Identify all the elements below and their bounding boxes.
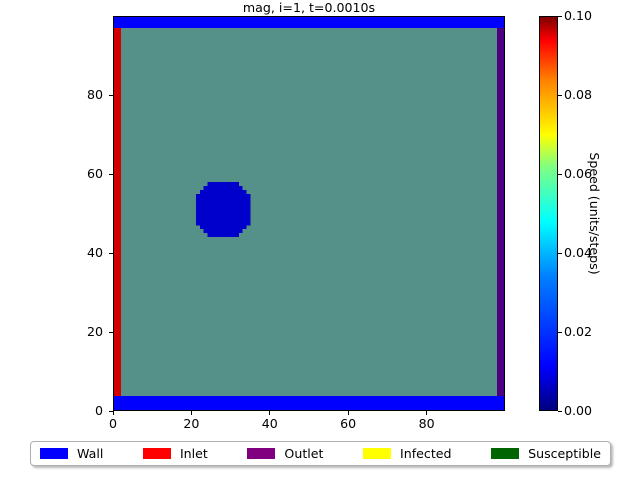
simulation-domain-axes [113, 16, 505, 411]
legend: WallInletOutletInfectedSusceptible [30, 441, 611, 466]
legend-swatch-icon [40, 448, 68, 459]
legend-entry-outlet: Outlet [247, 447, 323, 460]
y-tick-mark [109, 95, 113, 96]
legend-label: Infected [400, 447, 451, 460]
y-tick-label: 80 [0, 88, 103, 101]
colorbar-tick-mark [558, 174, 562, 175]
colorbar-tick-mark [558, 95, 562, 96]
x-tick-label: 20 [151, 417, 231, 430]
colorbar-tick-mark [558, 332, 562, 333]
x-tick-mark [269, 411, 270, 415]
y-tick-label: 20 [0, 325, 103, 338]
legend-swatch-icon [143, 448, 171, 459]
legend-label: Wall [77, 447, 103, 460]
legend-swatch-icon [363, 448, 391, 459]
legend-swatch-icon [491, 448, 519, 459]
colorbar-tick-mark [558, 411, 562, 412]
colorbar-axis-label: Speed (units/steps) [585, 16, 603, 411]
legend-label: Inlet [180, 447, 208, 460]
legend-entry-susceptible: Susceptible [491, 447, 601, 460]
y-tick-mark [109, 332, 113, 333]
x-tick-mark [191, 411, 192, 415]
legend-entry-infected: Infected [363, 447, 451, 460]
y-tick-mark [109, 253, 113, 254]
legend-label: Outlet [284, 447, 323, 460]
colorbar-tick-mark [558, 16, 562, 17]
y-tick-label: 40 [0, 246, 103, 259]
legend-swatch-icon [247, 448, 275, 459]
x-tick-mark [426, 411, 427, 415]
y-tick-label: 0 [0, 404, 103, 417]
legend-label: Susceptible [528, 447, 601, 460]
x-tick-label: 0 [73, 417, 153, 430]
y-tick-mark [109, 174, 113, 175]
x-tick-label: 80 [387, 417, 467, 430]
y-tick-label: 60 [0, 167, 103, 180]
matplotlib-figure: mag, i=1, t=0.0010s 020406080020406080 0… [0, 0, 640, 480]
x-tick-label: 60 [308, 417, 388, 430]
legend-entry-inlet: Inlet [143, 447, 208, 460]
circular-obstacle [114, 17, 504, 410]
colorbar-tick-mark [558, 253, 562, 254]
x-tick-mark [113, 411, 114, 415]
x-tick-mark [348, 411, 349, 415]
x-tick-label: 40 [230, 417, 310, 430]
page-title: mag, i=1, t=0.0010s [113, 1, 505, 15]
legend-entry-wall: Wall [40, 447, 103, 460]
colorbar [539, 16, 558, 411]
